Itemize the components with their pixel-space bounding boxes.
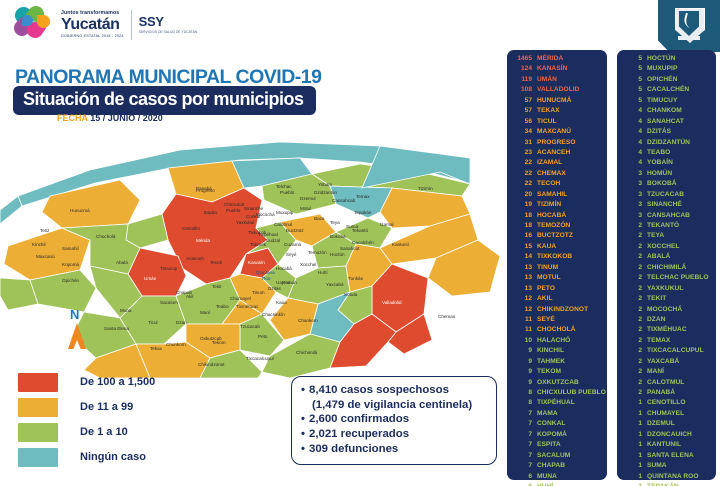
svg-text:Santa Elena: Santa Elena: [104, 326, 129, 331]
svg-text:Cacalchén: Cacalchén: [352, 240, 374, 245]
municipality-row: 3BOKOBÁ: [617, 179, 716, 189]
municipality-row: 4TEABO: [617, 148, 716, 158]
municipality-case-count: 34: [507, 127, 537, 137]
municipality-case-count: 16: [507, 231, 537, 241]
svg-text:Peto: Peto: [258, 334, 268, 339]
municipality-row: 1DZEMUL: [617, 419, 716, 429]
municipality-case-count: 5: [617, 96, 647, 106]
municipality-name: MOCOCHÁ: [647, 305, 682, 315]
municipality-case-count: 4: [617, 106, 647, 116]
date-value: 15 / JUNIO / 2020: [90, 113, 163, 123]
municipality-row: 2TEYA: [617, 231, 716, 241]
municipality-case-count: 9: [507, 378, 537, 388]
municipality-name: TIXCACALCUPUL: [647, 346, 704, 356]
municipality-row: 6HUHÍ: [507, 482, 607, 486]
municipality-case-count: 7: [507, 461, 537, 471]
compass-notch-icon: [73, 340, 81, 350]
municipality-case-count: 18: [507, 221, 537, 231]
municipality-name: SINANCHÉ: [647, 200, 682, 210]
page-subtitle: Situación de casos por municipios: [13, 86, 316, 115]
svg-text:Tzucacab: Tzucacab: [240, 324, 260, 329]
municipality-row: 12CHIKINDZONOT: [507, 305, 607, 315]
municipality-name: CHOCHOLÁ: [537, 325, 576, 335]
municipality-row: 56TICUL: [507, 117, 607, 127]
svg-text:Temax: Temax: [356, 194, 370, 199]
municipality-row: 4YOBAÍN: [617, 158, 716, 168]
municipality-row: 2TEKIT: [617, 294, 716, 304]
svg-text:Maní: Maní: [200, 310, 211, 315]
municipality-name: DZIDZANTÚN: [647, 138, 690, 148]
municipality-case-count: 6: [507, 482, 537, 486]
municipality-name: UMÁN: [537, 75, 557, 85]
municipality-name: HOMÚN: [647, 169, 672, 179]
svg-text:Chocholá: Chocholá: [96, 234, 116, 239]
municipality-name: TECOH: [537, 179, 560, 189]
municipality-case-count: 5: [617, 85, 647, 95]
svg-text:Kaua: Kaua: [276, 300, 287, 305]
svg-text:Sinanché: Sinanché: [244, 206, 264, 211]
municipality-name: TZUCACAB: [647, 190, 684, 200]
municipality-row: 57TEKAX: [507, 106, 607, 116]
svg-text:Tekax: Tekax: [150, 346, 163, 351]
svg-text:Temozón: Temozón: [308, 250, 327, 255]
legend-label: De 11 a 99: [80, 401, 133, 413]
municipality-case-count: 4: [617, 158, 647, 168]
municipality-name: IZAMAL: [537, 158, 562, 168]
svg-text:Calotmul: Calotmul: [274, 222, 292, 227]
svg-text:Sudzal: Sudzal: [266, 238, 280, 243]
municipality-case-count: 11: [507, 315, 537, 325]
municipality-case-count: 4: [617, 148, 647, 158]
municipality-name: OXKUTZCAB: [537, 378, 579, 388]
municipality-case-count: 11: [507, 325, 537, 335]
svg-text:Acanceh: Acanceh: [186, 256, 204, 261]
bullet-icon: •: [301, 427, 305, 442]
municipality-row: 9TAHMEK: [507, 357, 607, 367]
municipality-row: 20SAMAHIL: [507, 190, 607, 200]
municipality-row: 4SANAHCAT: [617, 117, 716, 127]
svg-text:Mérida: Mérida: [196, 238, 210, 243]
municipality-case-count: 2: [617, 346, 647, 356]
svg-text:Maxcanú: Maxcanú: [36, 254, 55, 259]
municipality-row: 2TIXCACALCUPUL: [617, 346, 716, 356]
svg-text:Tepakán: Tepakán: [354, 210, 372, 215]
municipality-row: 1465MÉRIDA: [507, 54, 607, 64]
ssy-logo: SSY SERVICIOS DE SALUD DE YUCATÁN: [139, 15, 198, 35]
bullet-icon: •: [301, 442, 305, 457]
municipality-row: 14TIXKOKOB: [507, 252, 607, 262]
municipality-name: YAXCABÁ: [647, 357, 679, 367]
municipality-case-count: 57: [507, 96, 537, 106]
stat-recovered: • 2,021 recuperados: [301, 427, 488, 442]
municipality-name: SUMA: [647, 461, 667, 471]
municipality-row: 12AKIL: [507, 294, 607, 304]
municipality-case-count: 20: [507, 190, 537, 200]
municipality-case-count: 2: [617, 388, 647, 398]
municipality-case-count: 56: [507, 117, 537, 127]
municipality-name: HUNUCMÁ: [537, 96, 571, 106]
municipality-case-count: 2: [617, 315, 647, 325]
municipality-name: KOPOMÁ: [537, 430, 567, 440]
municipality-name: PROGRESO: [537, 138, 576, 148]
legend-swatch: [18, 398, 58, 417]
svg-text:Muna: Muna: [120, 308, 132, 313]
svg-text:Tahmek: Tahmek: [250, 242, 267, 247]
municipality-case-count: 13: [507, 273, 537, 283]
svg-text:Sanahcat: Sanahcat: [340, 246, 360, 251]
municipality-name: TIXMÉHUAC: [647, 325, 687, 335]
legend-item: Ningún caso: [18, 445, 155, 469]
logo-divider: [131, 10, 132, 40]
svg-text:Tixméhuac: Tixméhuac: [236, 304, 259, 309]
municipality-name: DZONCAUICH: [647, 430, 692, 440]
svg-text:Panabá: Panabá: [196, 186, 212, 191]
svg-text:Kinchil: Kinchil: [32, 242, 46, 247]
municipality-case-count: 2: [617, 263, 647, 273]
stat-confirmed: • 2,600 confirmados: [301, 412, 488, 427]
municipality-case-count: 31: [507, 138, 537, 148]
municipality-case-count: 9: [507, 367, 537, 377]
ssy-subtitle: SERVICIOS DE SALUD DE YUCATÁN: [139, 30, 198, 35]
svg-text:Seyé: Seyé: [286, 252, 297, 257]
municipality-name: MUXUPIP: [647, 64, 677, 74]
municipality-case-count: 3: [617, 211, 647, 221]
municipality-case-count: 1: [617, 430, 647, 440]
svg-text:Espita: Espita: [204, 210, 217, 215]
municipality-row: 8TIXPÉHUAL: [507, 398, 607, 408]
municipality-case-count: 2: [617, 305, 647, 315]
municipality-case-count: 3: [617, 179, 647, 189]
municipality-case-count: 8: [507, 388, 537, 398]
svg-text:Tinum: Tinum: [252, 290, 265, 295]
svg-text:Tecoh: Tecoh: [210, 260, 223, 265]
municipality-name: TICUL: [537, 117, 557, 127]
municipality-row: 3SINANCHÉ: [617, 200, 716, 210]
stat-suspected-label: 8,410 casos sospechosos: [309, 383, 449, 398]
municipality-name: TIMUCUY: [647, 96, 677, 106]
compass-north-label: N: [70, 307, 79, 322]
svg-text:Dzitás: Dzitás: [268, 286, 281, 291]
municipality-name: TEPAKÁN: [647, 482, 679, 486]
municipality-case-count: 124: [507, 64, 537, 74]
svg-text:Teya: Teya: [330, 220, 340, 225]
municipality-name: ACANCEH: [537, 148, 570, 158]
municipality-row: 3TZUCACAB: [617, 190, 716, 200]
svg-text:Dzan: Dzan: [176, 320, 187, 325]
municipality-name: SANTA ELENA: [647, 451, 694, 461]
municipality-case-count: 3: [617, 200, 647, 210]
svg-text:Yaxkukul: Yaxkukul: [236, 220, 254, 225]
municipality-row: 4CHANKOM: [617, 106, 716, 116]
summary-stats-box: • 8,410 casos sospechosos (1,479 de vigi…: [291, 376, 497, 465]
municipality-row: 4DZITÁS: [617, 127, 716, 137]
municipality-name: SEYÉ: [537, 315, 555, 325]
municipality-name: CHICXULUB PUEBLO: [537, 388, 606, 398]
municipality-name: KANTUNIL: [647, 440, 681, 450]
municipality-row: 9KINCHIL: [507, 346, 607, 356]
municipality-case-count: 2: [617, 231, 647, 241]
municipality-name: TEYA: [647, 231, 664, 241]
municipality-case-count: 10: [507, 336, 537, 346]
municipality-row: 3CANSAHCAB: [617, 211, 716, 221]
municipality-name: MAXCANÚ: [537, 127, 571, 137]
svg-text:Chikindzonot: Chikindzonot: [198, 362, 225, 367]
municipality-case-count: 7: [507, 409, 537, 419]
svg-text:Quintana: Quintana: [256, 270, 275, 275]
municipality-row: 13TINUM: [507, 263, 607, 273]
municipality-row: 16BUCTZOTZ: [507, 231, 607, 241]
municipality-name: TIXPÉHUAL: [537, 398, 575, 408]
municipality-name: YOBAÍN: [647, 158, 673, 168]
bullet-icon: •: [301, 412, 305, 427]
municipality-name: VALLADOLID: [537, 85, 580, 95]
municipality-case-count: 2: [617, 242, 647, 252]
legend-swatch: [18, 448, 58, 467]
municipality-name: QUINTANA ROO: [647, 472, 699, 482]
municipality-name: KINCHIL: [537, 346, 564, 356]
municipality-case-count: 1: [617, 398, 647, 408]
municipality-row: 3HOMÚN: [617, 169, 716, 179]
svg-text:Bokobá: Bokobá: [330, 234, 346, 239]
municipality-row: 2MOCOCHÁ: [617, 305, 716, 315]
infographic-page: Juntos transformamos Yucatán GOBIERNO ES…: [0, 0, 720, 486]
svg-text:Opichén: Opichén: [62, 278, 80, 283]
municipality-name: HOCTÚN: [647, 54, 676, 64]
svg-text:Samahil: Samahil: [62, 246, 79, 251]
svg-text:Tekom: Tekom: [212, 340, 226, 345]
legend-label: De 1 a 10: [80, 426, 128, 438]
svg-text:Dzidzantún: Dzidzantún: [314, 190, 337, 195]
municipality-case-count: 1465: [507, 54, 537, 64]
municipality-row: 1SUMA: [617, 461, 716, 471]
svg-text:Suma: Suma: [346, 224, 358, 229]
svg-text:Ticul: Ticul: [148, 320, 158, 325]
municipality-case-count: 2: [617, 336, 647, 346]
municipality-row: 108VALLADOLID: [507, 85, 607, 95]
municipality-case-count: 23: [507, 148, 537, 158]
municipality-name: TEKOM: [537, 367, 561, 377]
municipality-name: CHAPAB: [537, 461, 565, 471]
svg-text:Umán: Umán: [144, 276, 157, 281]
municipality-name: TEKANTÓ: [647, 221, 679, 231]
municipality-row: 10HALACHÓ: [507, 336, 607, 346]
municipality-name: BOKOBÁ: [647, 179, 677, 189]
municipality-name: CHIKINDZONOT: [537, 305, 588, 315]
municipality-row: 7MAMA: [507, 409, 607, 419]
municipality-name: TIXKOKOB: [537, 252, 572, 262]
municipality-name: CHEMAX: [537, 169, 566, 179]
municipality-row: 2YAXKUKUL: [617, 284, 716, 294]
municipality-name: BUCTZOTZ: [537, 231, 573, 241]
stat-deaths-label: 309 defunciones: [309, 442, 398, 457]
municipality-case-count: 15: [507, 242, 537, 252]
municipality-row: 7CHAPAB: [507, 461, 607, 471]
municipality-case-count: 19: [507, 200, 537, 210]
municipality-name: CHANKOM: [647, 106, 682, 116]
map-legend: De 100 a 1,500De 11 a 99De 1 a 10Ningún …: [18, 370, 155, 470]
municipality-case-count: 5: [617, 54, 647, 64]
municipality-case-count: 4: [617, 138, 647, 148]
municipality-name: KANASÍN: [537, 64, 567, 74]
municipality-case-count: 2: [617, 378, 647, 388]
svg-text:Kopomá: Kopomá: [62, 262, 80, 267]
svg-text:Chunkom: Chunkom: [166, 342, 186, 347]
municipality-case-count: 2: [617, 325, 647, 335]
svg-text:Tizimín: Tizimín: [418, 186, 433, 191]
municipality-name: ESPITA: [537, 440, 561, 450]
municipality-case-count: 1: [617, 461, 647, 471]
municipality-case-count: 22: [507, 169, 537, 179]
municipality-case-count: 119: [507, 75, 537, 85]
svg-text:Abalá: Abalá: [116, 260, 128, 265]
svg-text:Kanasín: Kanasín: [248, 260, 265, 265]
municipality-name: DZITÁS: [647, 127, 671, 137]
yucatan-logo-icon: [14, 6, 54, 44]
municipality-row: 15KAUA: [507, 242, 607, 252]
municipality-name: SAMAHIL: [537, 190, 567, 200]
municipality-name: YAXKUKUL: [647, 284, 683, 294]
municipality-row: 34MAXCANÚ: [507, 127, 607, 137]
municipality-row: 119UMÁN: [507, 75, 607, 85]
municipality-case-count: 12: [507, 294, 537, 304]
stat-sentinel: (1,479 de vigilancia centinela): [301, 398, 488, 413]
municipality-name: TELCHAC PUEBLO: [647, 273, 709, 283]
svg-text:Chacsinkín: Chacsinkín: [262, 312, 285, 317]
municipality-case-count: 108: [507, 85, 537, 95]
municipality-case-count: 2: [617, 221, 647, 231]
svg-text:Baca: Baca: [314, 216, 325, 221]
legend-label: De 100 a 1,500: [80, 376, 155, 388]
yucatan-shield-badge: [658, 0, 720, 52]
svg-text:Cenotillo: Cenotillo: [182, 226, 200, 231]
municipality-case-count: 1: [617, 451, 647, 461]
municipality-case-count: 2: [617, 284, 647, 294]
svg-text:Tixkokob: Tixkokob: [248, 230, 267, 235]
municipality-row: 2MANÍ: [617, 367, 716, 377]
municipality-case-count: 1: [617, 472, 647, 482]
municipality-row: 11SEYÉ: [507, 315, 607, 325]
svg-text:Tunkás: Tunkás: [348, 276, 364, 281]
municipality-name: SACALUM: [537, 451, 570, 461]
municipality-case-count: 2: [617, 367, 647, 377]
svg-text:Tekit: Tekit: [212, 284, 222, 289]
municipality-row: 124KANASÍN: [507, 64, 607, 74]
municipality-name: HUHÍ: [537, 482, 553, 486]
svg-text:Dzemul: Dzemul: [300, 196, 316, 201]
municipality-name: CENOTILLO: [647, 398, 686, 408]
svg-text:Chicxulub: Chicxulub: [224, 202, 245, 207]
header-logos: Juntos transformamos Yucatán GOBIERNO ES…: [14, 6, 197, 44]
svg-text:Xocchel: Xocchel: [300, 262, 316, 267]
municipality-row: 5TIMUCUY: [617, 96, 716, 106]
municipality-row: 13PETO: [507, 284, 607, 294]
legend-label: Ningún caso: [80, 451, 146, 463]
municipality-row: 9OXKUTZCAB: [507, 378, 607, 388]
municipality-row: 2CALOTMUL: [617, 378, 716, 388]
municipality-case-count: 7: [507, 440, 537, 450]
municipality-name: TIZIMÍN: [537, 200, 561, 210]
municipality-case-count: 1: [617, 440, 647, 450]
municipality-name: AKIL: [537, 294, 553, 304]
municipality-case-count: 12: [507, 305, 537, 315]
municipality-name: CANSAHCAB: [647, 211, 690, 221]
legend-item: De 1 a 10: [18, 420, 155, 444]
municipality-case-count: 57: [507, 106, 537, 116]
municipality-row: 2XOCCHEL: [617, 242, 716, 252]
municipality-row: 4DZIDZANTÚN: [617, 138, 716, 148]
municipality-list-column-1[interactable]: 1465MÉRIDA124KANASÍN119UMÁN108VALLADOLID…: [507, 50, 607, 480]
municipality-name: CACALCHÉN: [647, 85, 689, 95]
svg-text:Chemax: Chemax: [438, 314, 456, 319]
municipality-name: CALOTMUL: [647, 378, 684, 388]
stat-recovered-label: 2,021 recuperados: [309, 427, 409, 442]
svg-text:Telchac: Telchac: [276, 184, 292, 189]
municipality-case-count: 2: [617, 357, 647, 367]
svg-text:Cansahcab: Cansahcab: [332, 198, 356, 203]
municipality-row: 19TIZIMÍN: [507, 200, 607, 210]
municipality-row: 57HUNUCMÁ: [507, 96, 607, 106]
municipality-case-count: 22: [507, 158, 537, 168]
municipality-row: 13MOTUL: [507, 273, 607, 283]
svg-text:Hoctún: Hoctún: [330, 252, 345, 257]
bullet-icon: •: [301, 383, 305, 398]
municipality-case-count: 13: [507, 284, 537, 294]
shield-base-icon: [678, 36, 700, 40]
municipality-case-count: 7: [507, 451, 537, 461]
municipality-row: 7KOPOMÁ: [507, 430, 607, 440]
municipality-name: DZEMUL: [647, 419, 675, 429]
municipality-case-count: 2: [617, 252, 647, 262]
municipality-name: PETO: [537, 284, 555, 294]
municipality-name: KAUA: [537, 242, 556, 252]
svg-text:Akil: Akil: [186, 294, 193, 299]
municipality-case-count: 14: [507, 252, 537, 262]
svg-text:Chankom: Chankom: [298, 318, 318, 323]
municipality-name: MANÍ: [647, 367, 664, 377]
municipality-name: HALACHÓ: [537, 336, 570, 346]
municipality-case-count: 1: [617, 409, 647, 419]
svg-text:Pueblo: Pueblo: [226, 208, 241, 213]
municipality-row: 22CHEMAX: [507, 169, 607, 179]
legend-swatch: [18, 373, 58, 392]
municipality-row: 2TEMAX: [617, 336, 716, 346]
date-row: FECHA 15 / JUNIO / 2020: [57, 113, 163, 123]
municipality-case-count: 7: [507, 430, 537, 440]
stat-confirmed-label: 2,600 confirmados: [309, 412, 409, 427]
svg-text:Tetiz: Tetiz: [40, 228, 50, 233]
date-label: FECHA: [57, 113, 88, 123]
logo-subtitle: GOBIERNO ESTATAL 2018 - 2024: [61, 35, 124, 39]
municipality-name: PANABÁ: [647, 388, 675, 398]
municipality-name: MUNA: [537, 472, 557, 482]
municipality-case-count: 8: [507, 398, 537, 408]
stat-suspected: • 8,410 casos sospechosos: [301, 383, 488, 398]
municipality-row: 5CACALCHÉN: [617, 85, 716, 95]
municipality-name: TINUM: [537, 263, 558, 273]
svg-text:Sacalum: Sacalum: [160, 300, 178, 305]
svg-text:Chichimilá: Chichimilá: [296, 350, 318, 355]
municipality-name: CONKAL: [537, 419, 566, 429]
logo-title: Yucatán: [61, 17, 124, 33]
svg-text:Kantunil: Kantunil: [392, 242, 409, 247]
municipality-row: 2CHICHIMILÁ: [617, 263, 716, 273]
municipality-list-column-2[interactable]: 5HOCTÚN5MUXUPIP5OPICHÉN5CACALCHÉN5TIMUCU…: [617, 50, 716, 480]
municipality-name: MÉRIDA: [537, 54, 563, 64]
legend-item: De 100 a 1,500: [18, 370, 155, 394]
svg-text:Chumayel: Chumayel: [230, 296, 251, 301]
svg-text:Huhí: Huhí: [318, 270, 328, 275]
legend-item: De 11 a 99: [18, 395, 155, 419]
